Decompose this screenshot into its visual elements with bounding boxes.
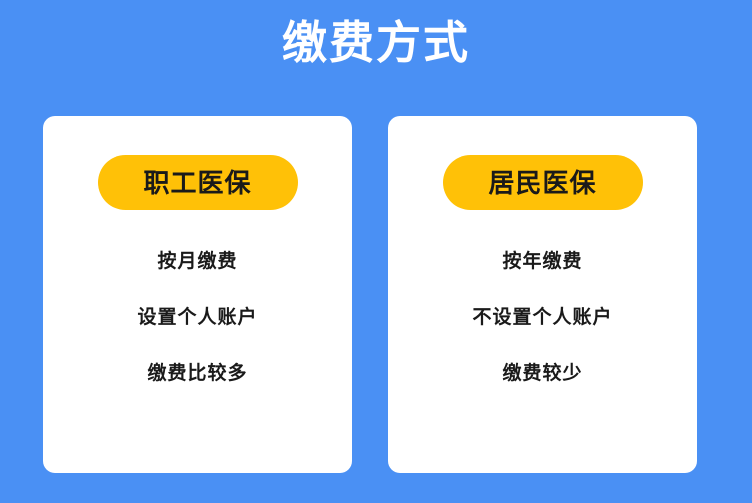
plan-feature-item: 缴费较少 xyxy=(502,361,582,386)
plan-card-list: 职工医保 按月缴费 设置个人账户 缴费比较多 居民医保 按年缴费 不设置个人账户… xyxy=(43,116,697,473)
plan-feature-item: 缴费比较多 xyxy=(147,361,247,386)
plan-card-resident[interactable]: 居民医保 按年缴费 不设置个人账户 缴费较少 xyxy=(388,116,697,473)
plan-feature-item: 按年缴费 xyxy=(502,249,582,274)
plan-badge-label: 职工医保 xyxy=(143,170,251,196)
plan-feature-item: 不设置个人账户 xyxy=(472,305,612,330)
plan-badge-employee: 职工医保 xyxy=(98,155,298,210)
plan-feature-item: 设置个人账户 xyxy=(137,305,257,330)
plan-feature-list-employee: 按月缴费 设置个人账户 缴费比较多 xyxy=(43,249,352,386)
plan-badge-resident: 居民医保 xyxy=(443,155,643,210)
plan-badge-label: 居民医保 xyxy=(488,170,596,196)
plan-card-employee[interactable]: 职工医保 按月缴费 设置个人账户 缴费比较多 xyxy=(43,116,352,473)
page-title: 缴费方式 xyxy=(0,14,752,72)
plan-feature-item: 按月缴费 xyxy=(157,249,237,274)
plan-feature-list-resident: 按年缴费 不设置个人账户 缴费较少 xyxy=(388,249,697,386)
payment-method-infographic: 缴费方式 职工医保 按月缴费 设置个人账户 缴费比较多 居民医保 按年缴费 不设… xyxy=(0,0,752,503)
